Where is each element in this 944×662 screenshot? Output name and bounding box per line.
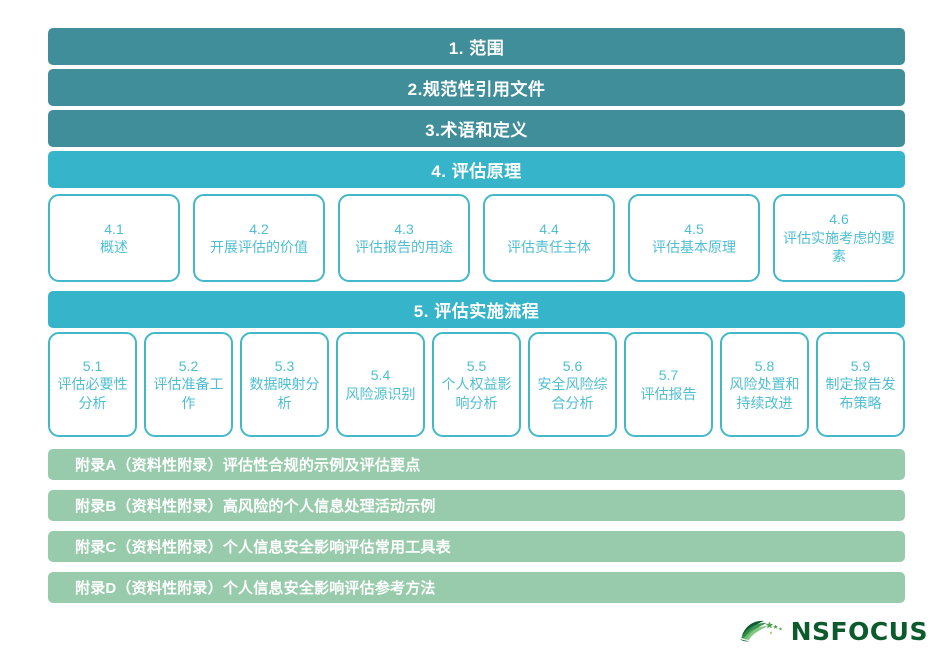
node-box-4-2: 4.2 开展评估的价值 (193, 194, 325, 282)
node-box-4-1: 4.1 概述 (48, 194, 180, 282)
node-number: 5.7 (659, 366, 678, 384)
section-bar-1: 1. 范围 (48, 28, 905, 65)
appendix-bar-c: 附录C（资料性附录）个人信息安全影响评估常用工具表 (48, 531, 905, 562)
node-box-4-3: 4.3 评估报告的用途 (338, 194, 470, 282)
nsfocus-swoosh-icon (740, 615, 786, 648)
node-number: 5.2 (179, 357, 198, 375)
node-number: 5.8 (755, 357, 774, 375)
node-box-5-9: 5.9 制定报告发布策略 (816, 332, 905, 437)
section-bar-5: 5. 评估实施流程 (48, 291, 905, 328)
node-number: 4.6 (829, 210, 848, 228)
node-number: 4.1 (104, 220, 123, 238)
node-number: 5.4 (371, 366, 390, 384)
node-box-4-4: 4.4 评估责任主体 (483, 194, 615, 282)
chapter5-box-row: 5.1 评估必要性分析 5.2 评估准备工作 5.3 数据映射分析 5.4 风险… (48, 332, 905, 437)
node-label: 评估报告的用途 (355, 238, 453, 256)
node-number: 5.9 (851, 357, 870, 375)
node-box-5-7: 5.7 评估报告 (624, 332, 713, 437)
node-box-5-4: 5.4 风险源识别 (336, 332, 425, 437)
node-label: 风险源识别 (346, 385, 416, 403)
node-box-5-5: 5.5 个人权益影响分析 (432, 332, 521, 437)
node-label: 数据映射分析 (245, 375, 324, 412)
node-number: 5.5 (467, 357, 486, 375)
node-label: 评估实施考虑的要素 (778, 229, 900, 266)
node-number: 4.5 (684, 220, 703, 238)
node-box-4-6: 4.6 评估实施考虑的要素 (773, 194, 905, 282)
node-number: 4.2 (249, 220, 268, 238)
node-number: 5.6 (563, 357, 582, 375)
node-number: 5.1 (83, 357, 102, 375)
section-bar-3: 3.术语和定义 (48, 110, 905, 147)
node-label: 安全风险综合分析 (533, 375, 612, 412)
node-box-4-5: 4.5 评估基本原理 (628, 194, 760, 282)
node-box-5-8: 5.8 风险处置和持续改进 (720, 332, 809, 437)
node-label: 评估报告 (641, 385, 697, 403)
node-box-5-2: 5.2 评估准备工作 (144, 332, 233, 437)
node-box-5-6: 5.6 安全风险综合分析 (528, 332, 617, 437)
appendix-bar-a: 附录A（资料性附录）评估性合规的示例及评估要点 (48, 449, 905, 480)
node-label: 风险处置和持续改进 (725, 375, 804, 412)
node-box-5-3: 5.3 数据映射分析 (240, 332, 329, 437)
nsfocus-wordmark: NSFOCUS (791, 619, 928, 644)
node-box-5-1: 5.1 评估必要性分析 (48, 332, 137, 437)
node-label: 评估必要性分析 (53, 375, 132, 412)
section-bar-4: 4. 评估原理 (48, 151, 905, 188)
node-label: 制定报告发布策略 (821, 375, 900, 412)
section-bar-2: 2.规范性引用文件 (48, 69, 905, 106)
node-number: 4.3 (394, 220, 413, 238)
appendix-bar-b: 附录B（资料性附录）高风险的个人信息处理活动示例 (48, 490, 905, 521)
node-label: 概述 (100, 238, 128, 256)
node-label: 评估准备工作 (149, 375, 228, 412)
node-label: 评估责任主体 (507, 238, 591, 256)
node-number: 4.4 (539, 220, 558, 238)
node-label: 个人权益影响分析 (437, 375, 516, 412)
node-label: 开展评估的价值 (210, 238, 308, 256)
chapter4-box-row: 4.1 概述 4.2 开展评估的价值 4.3 评估报告的用途 4.4 评估责任主… (48, 194, 905, 282)
diagram-canvas: 1. 范围 2.规范性引用文件 3.术语和定义 4. 评估原理 4.1 概述 4… (0, 0, 944, 662)
nsfocus-logo: NSFOCUS (740, 615, 928, 648)
node-label: 评估基本原理 (652, 238, 736, 256)
appendix-bar-d: 附录D（资料性附录）个人信息安全影响评估参考方法 (48, 572, 905, 603)
node-number: 5.3 (275, 357, 294, 375)
